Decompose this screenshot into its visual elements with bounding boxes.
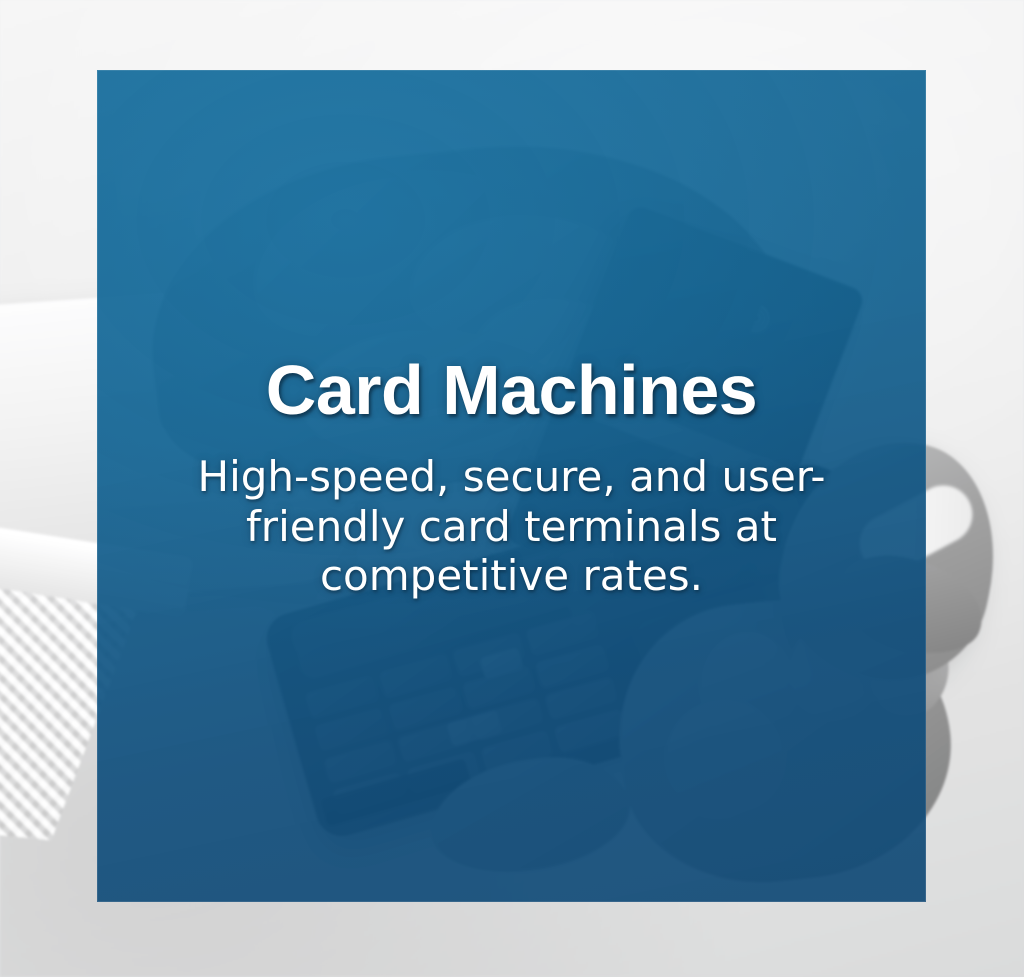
page-title: Card Machines — [266, 355, 757, 425]
text-block: Card Machines High-speed, secure, and us… — [97, 70, 926, 902]
page-subtitle: High-speed, secure, and user-friendly ca… — [167, 452, 857, 601]
promo-banner: Card Machines High-speed, secure, and us… — [0, 0, 1024, 977]
